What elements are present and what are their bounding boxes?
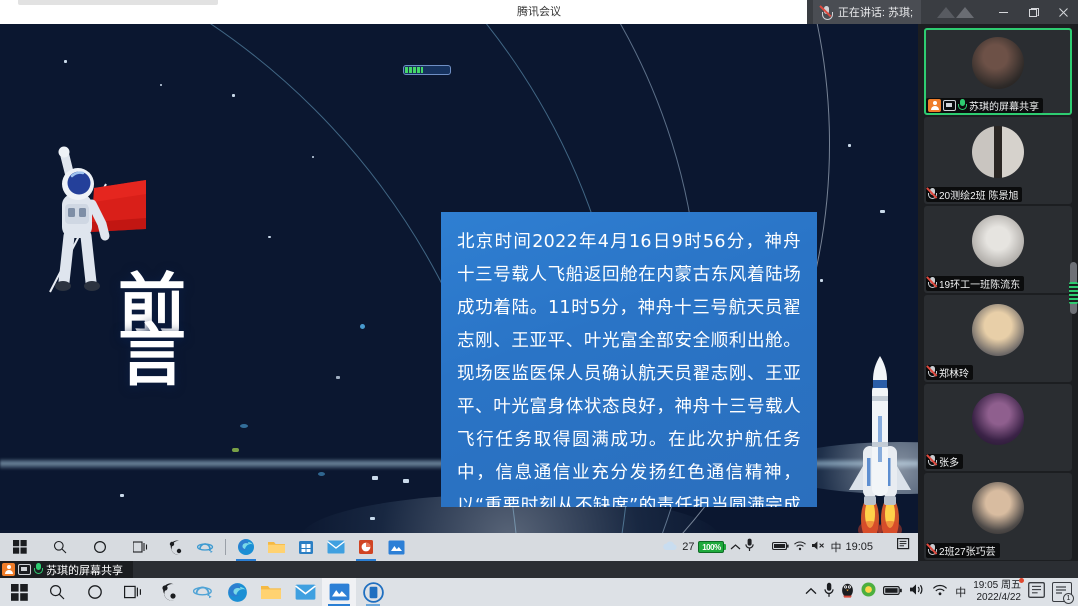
notification-dot [1019,578,1024,583]
avatar [972,304,1024,356]
taskbar-app-sogou-icon[interactable] [160,533,190,561]
star [848,144,851,147]
participant-tile[interactable]: 苏琪的屏幕共享 [924,28,1072,115]
slide-progress-indicator [403,65,451,75]
volume-icon[interactable] [909,583,925,601]
cortana-icon[interactable] [76,578,114,606]
taskbar-app-mail-icon[interactable] [321,533,351,561]
maximize-button[interactable] [1018,0,1048,24]
system-tray: 中 19:05 周五 2022/4/22 1 [805,578,1078,606]
taskbar-app-reader-icon[interactable] [356,578,390,606]
mic-unmuted-icon [958,99,967,112]
participant-tile[interactable]: 张多 [924,384,1072,471]
shared-taskbar-tray: 27 100% [662,533,918,561]
mic-unmuted-icon [34,563,43,576]
title-bar-right-cluster: 正在讲话: 苏琪; [807,0,1078,24]
tencent-meeting-window: 腾讯会议 正在讲话: 苏琪; [0,0,1078,606]
active-speaker-indicator: 正在讲话: 苏琪; [813,0,921,24]
slide-heading-char-2: 言 [118,332,186,382]
participant-tile[interactable]: 郑林玲 [924,295,1072,382]
close-button[interactable] [1048,0,1078,24]
avatar [972,37,1024,89]
participant-rail[interactable]: 苏琪的屏幕共享 20测绘2班 陈景旭 19环工一班陈流东 郑林玲 [918,24,1078,561]
notification-count: 1 [1063,593,1074,604]
taskbar-app-mail-icon[interactable] [288,578,322,606]
star [880,210,885,213]
mic-muted-icon [928,544,937,557]
clock-date: 2022/4/22 [973,592,1021,604]
show-desktop-notes-icon[interactable] [1028,582,1045,603]
taskbar-app-internet-explorer-icon[interactable] [190,533,220,561]
wifi-icon[interactable] [793,538,807,556]
host-icon [928,99,941,112]
rocket-illustration [845,354,915,533]
participant-name: 20测绘2班 陈景旭 [939,187,1018,202]
taskbar-app-powerpoint-icon[interactable] [351,533,381,561]
participant-name: 郑林玲 [939,365,969,380]
shared-screen-stage: 前 言 [0,24,918,561]
tencent-meeting-logo-icon [937,7,974,18]
avatar [972,482,1024,534]
taskbar-app-tencent-meeting-icon[interactable] [322,578,356,606]
windows-start-icon[interactable] [0,533,40,561]
window-controls [988,0,1078,24]
host-icon [2,563,15,576]
show-hidden-icons-chevron-icon[interactable] [730,538,741,556]
mic-muted-icon [928,366,937,379]
taskbar-app-internet-explorer-icon[interactable] [186,578,220,606]
battery-percent: 100% [702,543,720,552]
weather-temperature: 27 [682,541,694,553]
cortana-icon[interactable] [80,533,120,561]
participant-name: 苏琪的屏幕共享 [969,98,1039,113]
window-title-bar: 腾讯会议 正在讲话: 苏琪; [0,0,1078,24]
participant-badge: 苏琪的屏幕共享 [926,98,1043,113]
taskbar-app-microsoft-store-icon[interactable] [291,533,321,561]
battery-tray-icon[interactable] [883,583,902,601]
taskbar-app-sogou-icon[interactable] [152,578,186,606]
windows-taskbar: 中 19:05 周五 2022/4/22 1 [0,578,1078,606]
clock[interactable]: 19:05 周五 2022/4/22 [973,580,1021,604]
active-speaker-label: 正在讲话: 苏琪; [838,4,913,20]
wifi-icon[interactable] [932,583,948,601]
security-shield-icon[interactable] [861,582,876,602]
volume-muted-icon[interactable] [811,538,826,556]
star [820,279,823,282]
action-center-icon[interactable]: 1 [1052,582,1072,602]
participant-badge: 2班27张巧芸 [926,543,1000,558]
taskbar-divider [225,539,226,555]
participant-badge: 郑林玲 [926,365,973,380]
ime-indicator[interactable]: 中 [830,539,841,555]
participant-tile[interactable]: 19环工一班陈流东 [924,206,1072,293]
participant-badge: 张多 [926,454,963,469]
microphone-tray-icon[interactable] [745,538,754,557]
participant-tile[interactable]: 2班27张巧芸 [924,473,1072,560]
mic-muted-icon [928,188,937,201]
participant-name: 张多 [939,454,959,469]
slide-heading: 前 言 [110,256,194,408]
screen-share-floating-label[interactable]: 苏琪的屏幕共享 [0,561,133,578]
clock[interactable]: 19:05 [845,541,873,553]
search-icon[interactable] [40,533,80,561]
taskbar-app-file-explorer-icon[interactable] [261,533,291,561]
participant-badge: 20测绘2班 陈景旭 [926,187,1022,202]
presentation-slide: 前 言 [0,24,918,533]
avatar [972,215,1024,267]
battery-icon[interactable]: 100% [698,541,726,553]
search-icon[interactable] [38,578,76,606]
microphone-tray-icon[interactable] [824,582,834,603]
screen-share-label-text: 苏琪的屏幕共享 [46,562,123,578]
avatar [972,393,1024,445]
taskbar-app-tencent-meeting-icon[interactable] [381,533,411,561]
shared-desktop-taskbar: 27 100% [0,533,918,561]
screen-share-icon [943,100,956,111]
participant-name: 19环工一班陈流东 [939,276,1020,291]
taskbar-app-edge-icon[interactable] [220,578,254,606]
task-view-icon[interactable] [120,533,160,561]
participant-name: 2班27张巧芸 [939,543,996,558]
mic-level-meter [1069,282,1078,304]
windows-start-icon[interactable] [0,578,38,606]
mic-muted-icon [928,455,937,468]
taskbar-app-edge-icon[interactable] [231,533,261,561]
screen-share-icon [18,564,31,575]
taskbar-app-file-explorer-icon[interactable] [254,578,288,606]
participant-badge: 19环工一班陈流东 [926,276,1024,291]
battery-tray-icon[interactable] [772,538,789,556]
task-view-icon[interactable] [114,578,152,606]
slide-text-panel: 北京时间2022年4月16日9时56分，神舟十三号载人飞船返回舱在内蒙古东风着陆… [441,212,817,507]
action-center-icon[interactable] [897,538,912,557]
minimize-button[interactable] [988,0,1018,24]
show-hidden-icons-chevron-icon[interactable] [805,583,817,601]
weather-cloud-icon[interactable] [662,538,678,556]
avatar [972,126,1024,178]
qq-penguin-icon[interactable] [841,582,854,603]
mic-muted-icon [821,6,832,19]
ime-indicator[interactable]: 中 [955,584,966,600]
clock-time: 19:05 周五 [973,580,1021,592]
mic-muted-icon [928,277,937,290]
slide-body-text: 北京时间2022年4月16日9时56分，神舟十三号载人飞船返回舱在内蒙古东风着陆… [457,226,801,507]
participant-tile[interactable]: 20测绘2班 陈景旭 [924,117,1072,204]
